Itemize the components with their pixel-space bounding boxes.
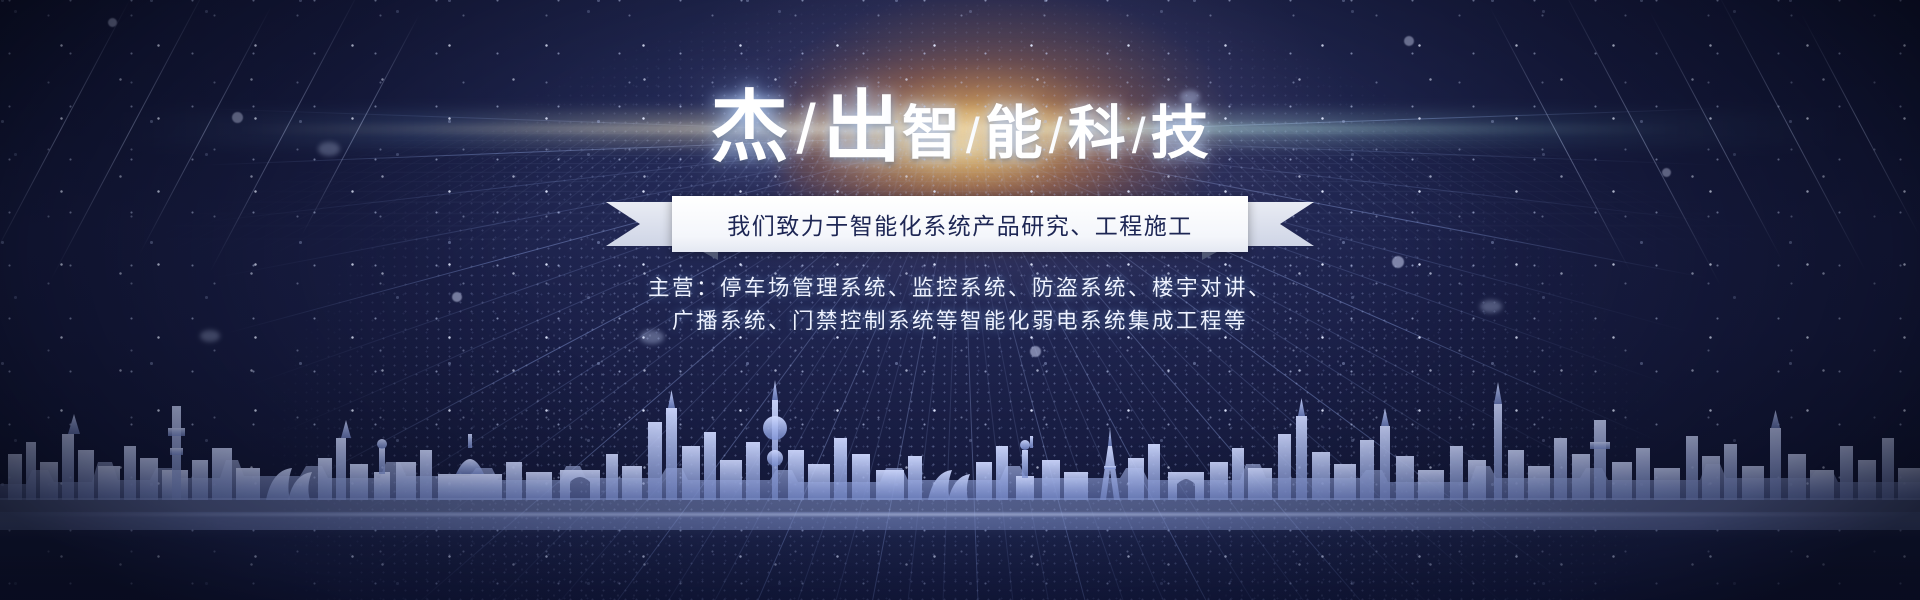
title-char-zhi: 智 (902, 105, 961, 163)
tagline-ribbon: 我们致力于智能化系统产品研究、工程施工 (628, 196, 1292, 252)
ribbon-body: 我们致力于智能化系统产品研究、工程施工 (672, 196, 1248, 252)
skyline-silhouette (0, 350, 1920, 530)
title-separator-2: / (966, 111, 980, 161)
title-separator-1: / (796, 94, 815, 164)
title-char-neng: 能 (985, 105, 1044, 163)
hero-banner: 杰 / 出 智 / 能 / 科 / 技 JIE CHU INTELLIGENT … (0, 0, 1920, 600)
title-char-jie: 杰 (710, 88, 789, 166)
description-line-1: 主营：停车场管理系统、监控系统、防盗系统、楼宇对讲、 (0, 272, 1920, 305)
title-char-ji: 技 (1151, 105, 1210, 163)
title-separator-3: / (1049, 111, 1063, 161)
title-char-chu: 出 (823, 88, 902, 166)
title-char-ke: 科 (1068, 105, 1127, 163)
description-line-2: 广播系统、门禁控制系统等智能化弱电系统集成工程等 (0, 305, 1920, 338)
water-reflection (0, 512, 1920, 600)
main-title: 杰 / 出 智 / 能 / 科 / 技 (0, 88, 1920, 166)
ribbon-tagline-text: 我们致力于智能化系统产品研究、工程施工 (727, 207, 1193, 241)
title-separator-4: / (1132, 111, 1146, 161)
service-description: 主营：停车场管理系统、监控系统、防盗系统、楼宇对讲、 广播系统、门禁控制系统等智… (0, 272, 1920, 338)
city-skyline (0, 350, 1920, 600)
